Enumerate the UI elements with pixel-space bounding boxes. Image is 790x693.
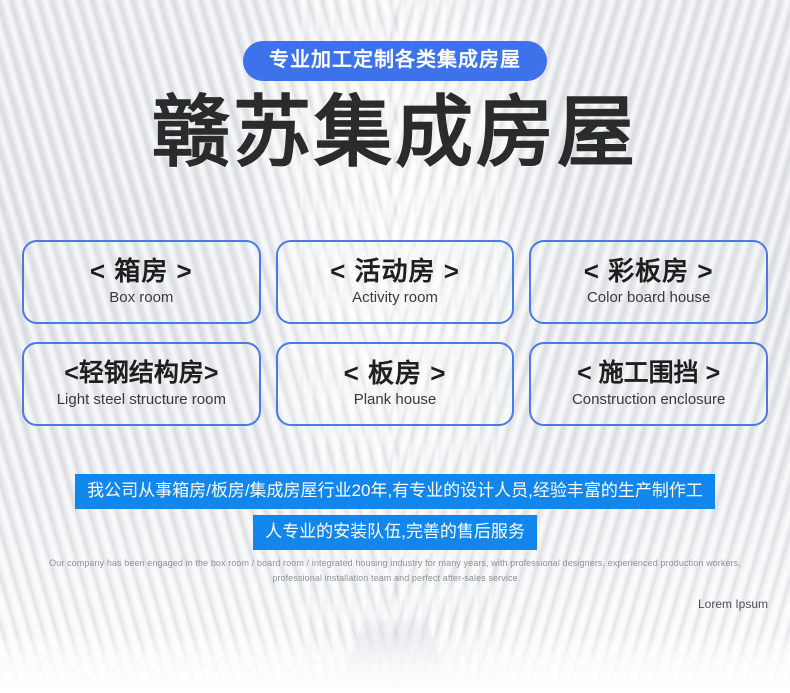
category-card-box-room[interactable]: < 箱房 > Box room [22,240,261,324]
promo-banner: 专业加工定制各类集成房屋 赣苏集成房屋 < 箱房 > Box room < 活动… [0,0,790,693]
description-line-2: 人专业的安装队伍,完善的售后服务 [253,515,537,550]
description-line-1: 我公司从事箱房/板房/集成房屋行业20年,有专业的设计人员,经验丰富的生产制作工 [75,474,715,509]
category-label-en: Plank house [354,392,437,409]
footer-lorem-label: Lorem Ipsum [698,598,768,610]
headline-badge: 专业加工定制各类集成房屋 [243,41,547,81]
category-label-cn: < 彩板房 > [584,257,714,286]
category-card-light-steel-structure-room[interactable]: <轻钢结构房> Light steel structure room [22,342,261,426]
category-card-activity-room[interactable]: < 活动房 > Activity room [276,240,515,324]
banner-content: 专业加工定制各类集成房屋 赣苏集成房屋 < 箱房 > Box room < 活动… [0,0,790,693]
category-label-cn: <轻钢结构房> [64,360,218,388]
category-label-en: Box room [109,290,173,307]
category-card-color-board-house[interactable]: < 彩板房 > Color board house [529,240,768,324]
category-card-construction-enclosure[interactable]: < 施工围挡 > Construction enclosure [529,342,768,426]
category-label-en: Color board house [587,290,710,307]
category-label-cn: < 板房 > [344,359,447,388]
english-translation-note: Our company has been engaged in the box … [0,556,790,586]
english-note-line-2: professional installation team and perfe… [6,571,784,586]
category-label-cn: < 箱房 > [90,257,193,286]
category-label-cn: < 施工围挡 > [577,360,720,388]
category-label-en: Activity room [352,290,438,307]
category-label-cn: < 活动房 > [330,257,460,286]
page-title: 赣苏集成房屋 [0,88,790,178]
category-card-grid: < 箱房 > Box room < 活动房 > Activity room < … [22,240,768,426]
category-card-plank-house[interactable]: < 板房 > Plank house [276,342,515,426]
badge-row: 专业加工定制各类集成房屋 [0,41,790,81]
description-banner: 我公司从事箱房/板房/集成房屋行业20年,有专业的设计人员,经验丰富的生产制作工… [0,474,790,550]
category-label-en: Construction enclosure [572,392,725,409]
english-note-line-1: Our company has been engaged in the box … [6,556,784,571]
category-label-en: Light steel structure room [57,392,226,409]
